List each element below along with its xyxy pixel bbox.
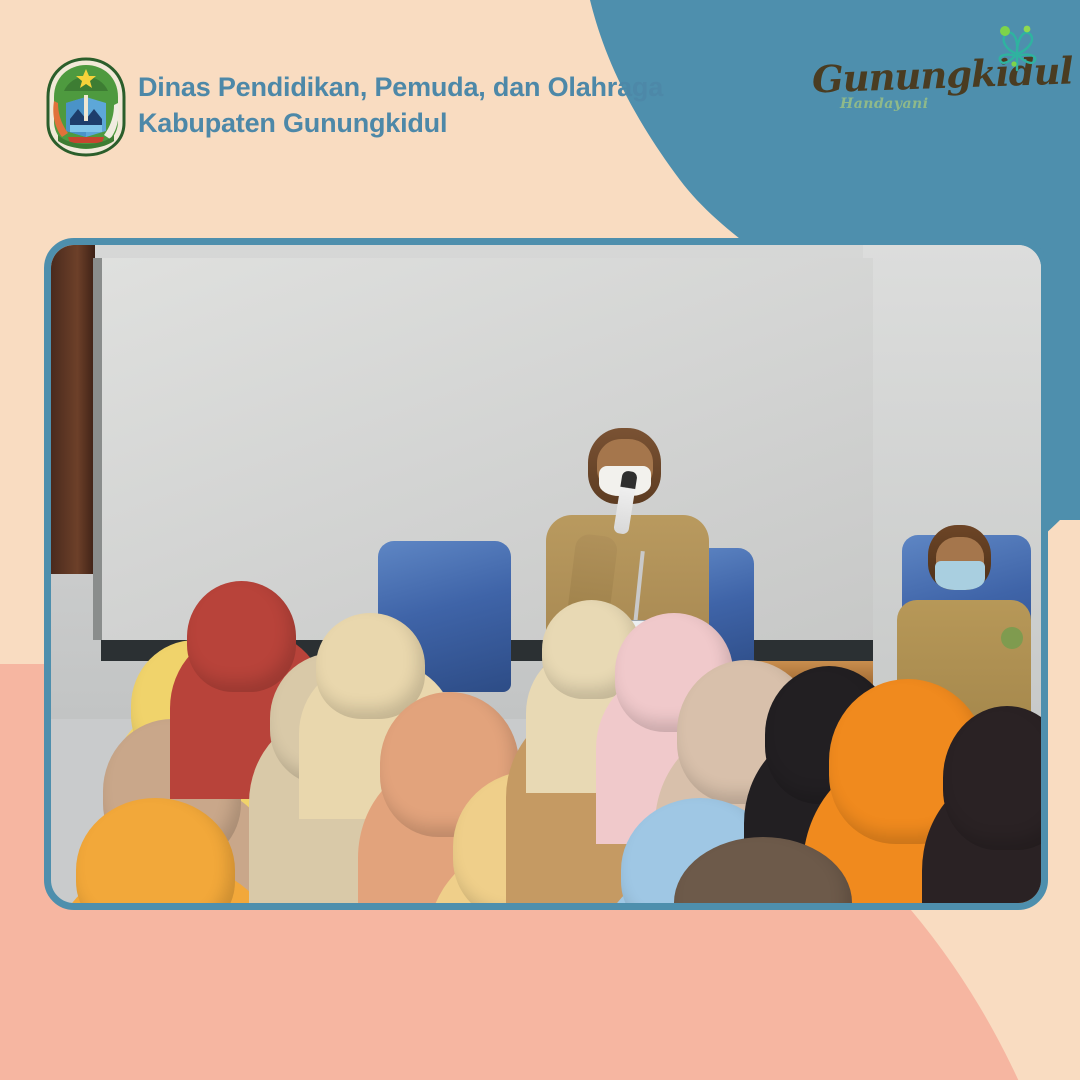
- gunungkidul-regency-crest-icon: [44, 57, 128, 157]
- event-photo-card: [44, 238, 1048, 910]
- audience-head: [316, 613, 425, 718]
- seated-officer-face-mask: [935, 561, 985, 590]
- audience-head: [187, 581, 296, 693]
- page-title: Dinas Pendidikan, Pemuda, dan Olahraga K…: [138, 70, 663, 141]
- screen-edge: [93, 258, 103, 640]
- brand-name: Gunungkidul: [811, 51, 1012, 102]
- poster-header: Dinas Pendidikan, Pemuda, dan Olahraga K…: [0, 0, 1080, 210]
- green-butterfly-flower-icon: [986, 20, 1048, 82]
- gunungkidul-brand-logo: Gunungkidul Handayani: [812, 46, 1042, 126]
- event-photo: [51, 245, 1041, 903]
- brand-tagline: Handayani: [840, 96, 929, 112]
- room-door: [51, 245, 95, 574]
- poster-canvas: Dinas Pendidikan, Pemuda, dan Olahraga K…: [0, 0, 1080, 1080]
- uniform-emblem: [1001, 627, 1023, 649]
- poster-footer: @dikpora_gk pendidikan.gunungkidulkab.go…: [0, 920, 1080, 1080]
